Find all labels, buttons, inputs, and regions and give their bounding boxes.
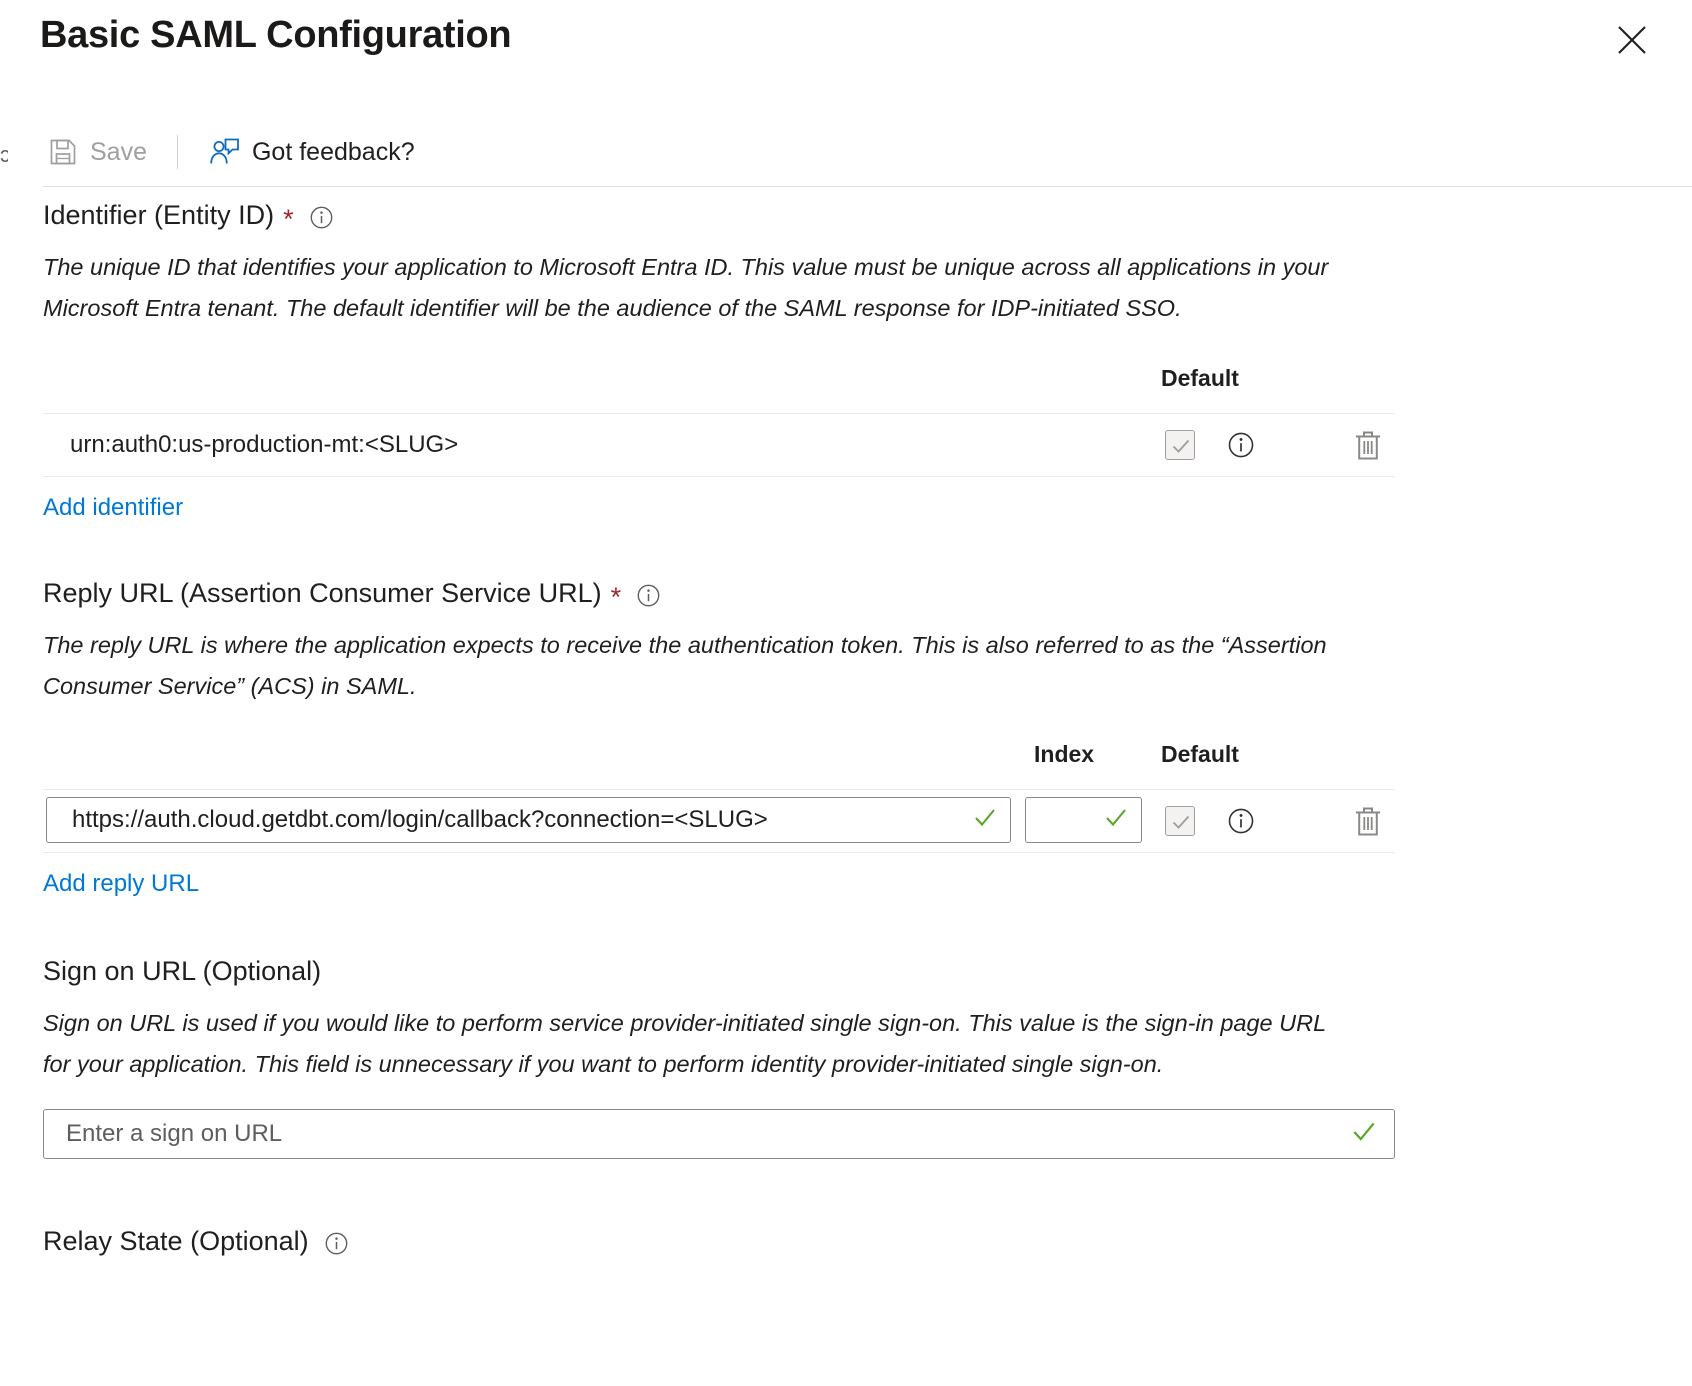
person-feedback-icon xyxy=(208,137,240,167)
sign-on-url-description: Sign on URL is used if you would like to… xyxy=(43,1003,1358,1085)
sign-on-url-heading: Sign on URL (Optional) xyxy=(43,956,321,987)
table-row: https://auth.cloud.getdbt.com/login/call… xyxy=(43,790,1395,852)
sign-on-url-value: Enter a sign on URL xyxy=(44,1120,282,1148)
page-title: Basic SAML Configuration xyxy=(40,14,511,57)
trash-icon[interactable] xyxy=(1353,804,1383,838)
close-icon[interactable] xyxy=(1614,22,1650,58)
reply-url-index-input[interactable] xyxy=(1025,797,1142,843)
column-header-index: Index xyxy=(1034,741,1094,768)
got-feedback-label: Got feedback? xyxy=(252,138,415,167)
section-relay-state: Relay State (Optional) xyxy=(43,1226,1692,1257)
reply-url-column-headers: Index Default xyxy=(43,741,1692,775)
table-divider xyxy=(43,852,1395,853)
table-row: urn:auth0:us-production-mt:<SLUG> xyxy=(43,414,1395,476)
required-asterisk: * xyxy=(611,584,622,611)
section-sign-on-url: Sign on URL (Optional) Sign on URL is us… xyxy=(43,956,1692,1159)
checkmark-icon xyxy=(1350,1118,1378,1151)
blade-header: Basic SAML Configuration xyxy=(0,0,1692,92)
sign-on-url-input[interactable]: Enter a sign on URL xyxy=(43,1109,1395,1159)
identifier-description: The unique ID that identifies your appli… xyxy=(43,247,1373,329)
reply-url-heading-row: Reply URL (Assertion Consumer Service UR… xyxy=(43,578,1692,609)
column-header-default: Default xyxy=(1161,365,1239,392)
identifier-heading: Identifier (Entity ID) xyxy=(43,200,274,231)
relay-state-heading-row: Relay State (Optional) xyxy=(43,1226,1692,1257)
identifier-column-headers: Default xyxy=(43,365,1692,399)
identifier-heading-row: Identifier (Entity ID) * xyxy=(43,200,1692,231)
add-identifier-link[interactable]: Add identifier xyxy=(43,494,183,522)
info-icon[interactable] xyxy=(310,205,333,228)
reply-url-input[interactable]: https://auth.cloud.getdbt.com/login/call… xyxy=(46,797,1011,843)
identifier-row-info-icon[interactable] xyxy=(1228,432,1254,458)
reply-url-default-checkbox xyxy=(1165,806,1195,836)
required-asterisk: * xyxy=(283,206,294,233)
add-reply-url-link[interactable]: Add reply URL xyxy=(43,870,199,898)
checkmark-icon xyxy=(1103,805,1129,836)
section-identifier: Identifier (Entity ID) * The unique ID t… xyxy=(43,200,1692,522)
column-header-default: Default xyxy=(1161,741,1239,768)
reply-url-heading: Reply URL (Assertion Consumer Service UR… xyxy=(43,578,602,609)
blade-content: Identifier (Entity ID) * The unique ID t… xyxy=(0,186,1692,1386)
reply-url-value: https://auth.cloud.getdbt.com/login/call… xyxy=(47,806,768,834)
toolbar-divider xyxy=(177,135,178,169)
table-divider xyxy=(43,476,1395,477)
got-feedback-button[interactable]: Got feedback? xyxy=(208,130,415,174)
save-label: Save xyxy=(90,138,147,167)
save-button[interactable]: Save xyxy=(48,130,147,174)
section-reply-url: Reply URL (Assertion Consumer Service UR… xyxy=(43,578,1692,898)
sign-on-url-heading-row: Sign on URL (Optional) xyxy=(43,956,1692,987)
info-icon[interactable] xyxy=(637,583,660,606)
reply-url-row-info-icon[interactable] xyxy=(1228,808,1254,834)
trash-icon[interactable] xyxy=(1353,428,1383,462)
save-disk-icon xyxy=(48,137,78,167)
identifier-default-checkbox xyxy=(1165,430,1195,460)
command-bar: Save Got feedback? xyxy=(0,118,1692,186)
checkmark-icon xyxy=(972,805,998,836)
info-icon[interactable] xyxy=(325,1231,348,1254)
reply-url-description: The reply URL is where the application e… xyxy=(43,625,1353,707)
relay-state-heading: Relay State (Optional) xyxy=(43,1226,309,1257)
identifier-value: urn:auth0:us-production-mt:<SLUG> xyxy=(70,431,458,459)
